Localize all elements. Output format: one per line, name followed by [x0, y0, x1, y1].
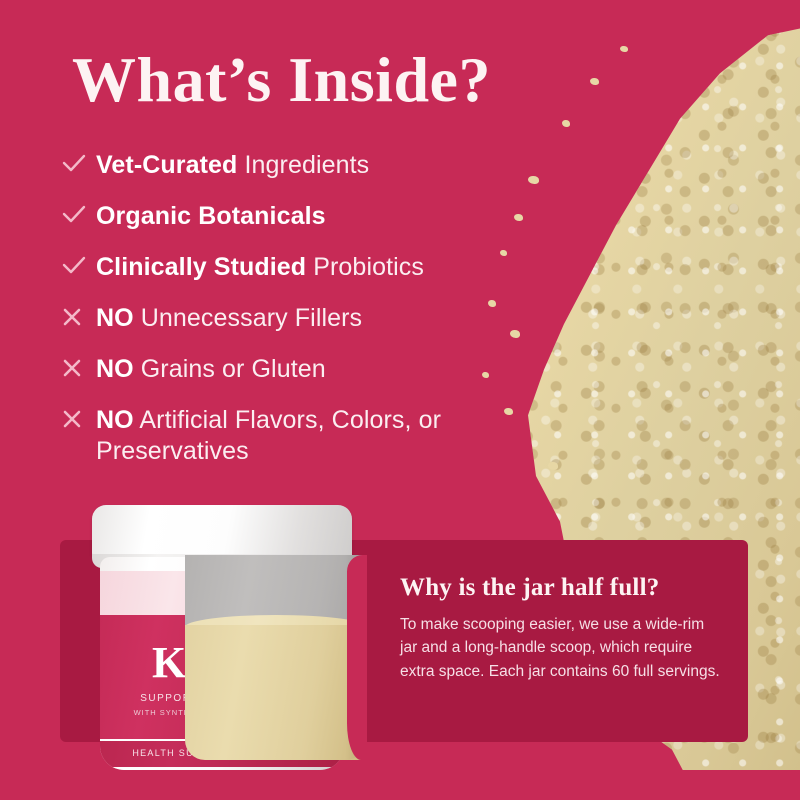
benefit-text: NO Unnecessary Fillers: [96, 303, 362, 334]
cross-icon: [62, 303, 96, 327]
benefit-emphasis: Vet-Curated: [96, 151, 237, 179]
info-card-text: To make scooping easier, we use a wide-r…: [400, 613, 720, 683]
check-icon: [62, 252, 96, 276]
list-item: NO Unnecessary Fillers: [62, 303, 532, 335]
benefit-text: Clinically Studied Probiotics: [96, 252, 424, 283]
benefit-emphasis: Clinically Studied: [96, 253, 306, 281]
benefit-rest: Artificial Flavors, Colors, or Preservat…: [96, 406, 441, 465]
jar-cutaway-overlay: [185, 555, 367, 760]
benefit-rest: Grains or Gluten: [134, 355, 326, 383]
list-item: NO Artificial Flavors, Colors, or Preser…: [62, 405, 532, 467]
benefit-text: Vet-Curated Ingredients: [96, 150, 369, 181]
page-title: What’s Inside?: [72, 48, 491, 112]
benefit-rest: Ingredients: [237, 151, 369, 179]
check-icon: [62, 150, 96, 174]
product-infographic: What’s Inside? Vet-Curated Ingredients O…: [0, 0, 800, 800]
benefit-text: NO Grains or Gluten: [96, 354, 326, 385]
benefit-text: NO Artificial Flavors, Colors, or Preser…: [96, 405, 532, 467]
powder-fill-level: [185, 625, 367, 760]
info-card-body: Why is the jar half full? To make scoopi…: [400, 574, 720, 683]
benefit-rest: Unnecessary Fillers: [134, 304, 362, 332]
cross-icon: [62, 405, 96, 429]
list-item: Clinically Studied Probiotics: [62, 252, 532, 284]
powder-speck: [590, 78, 599, 85]
check-icon: [62, 201, 96, 225]
benefit-emphasis: NO: [96, 304, 134, 332]
list-item: NO Grains or Gluten: [62, 354, 532, 386]
powder-speck: [562, 120, 570, 127]
cutaway-right-mask: [347, 555, 367, 760]
list-item: Organic Botanicals: [62, 201, 532, 233]
benefit-text: Organic Botanicals: [96, 201, 326, 232]
benefit-emphasis: NO: [96, 406, 134, 434]
powder-speck: [620, 46, 628, 52]
jar-lid: [92, 505, 352, 561]
info-card-title: Why is the jar half full?: [400, 574, 720, 602]
cross-icon: [62, 354, 96, 378]
benefits-list: Vet-Curated Ingredients Organic Botanica…: [62, 150, 532, 486]
benefit-rest: Probiotics: [306, 253, 424, 281]
powder-speck: [548, 462, 558, 470]
list-item: Vet-Curated Ingredients: [62, 150, 532, 182]
benefit-emphasis: Organic Botanicals: [96, 202, 326, 230]
benefit-emphasis: NO: [96, 355, 134, 383]
